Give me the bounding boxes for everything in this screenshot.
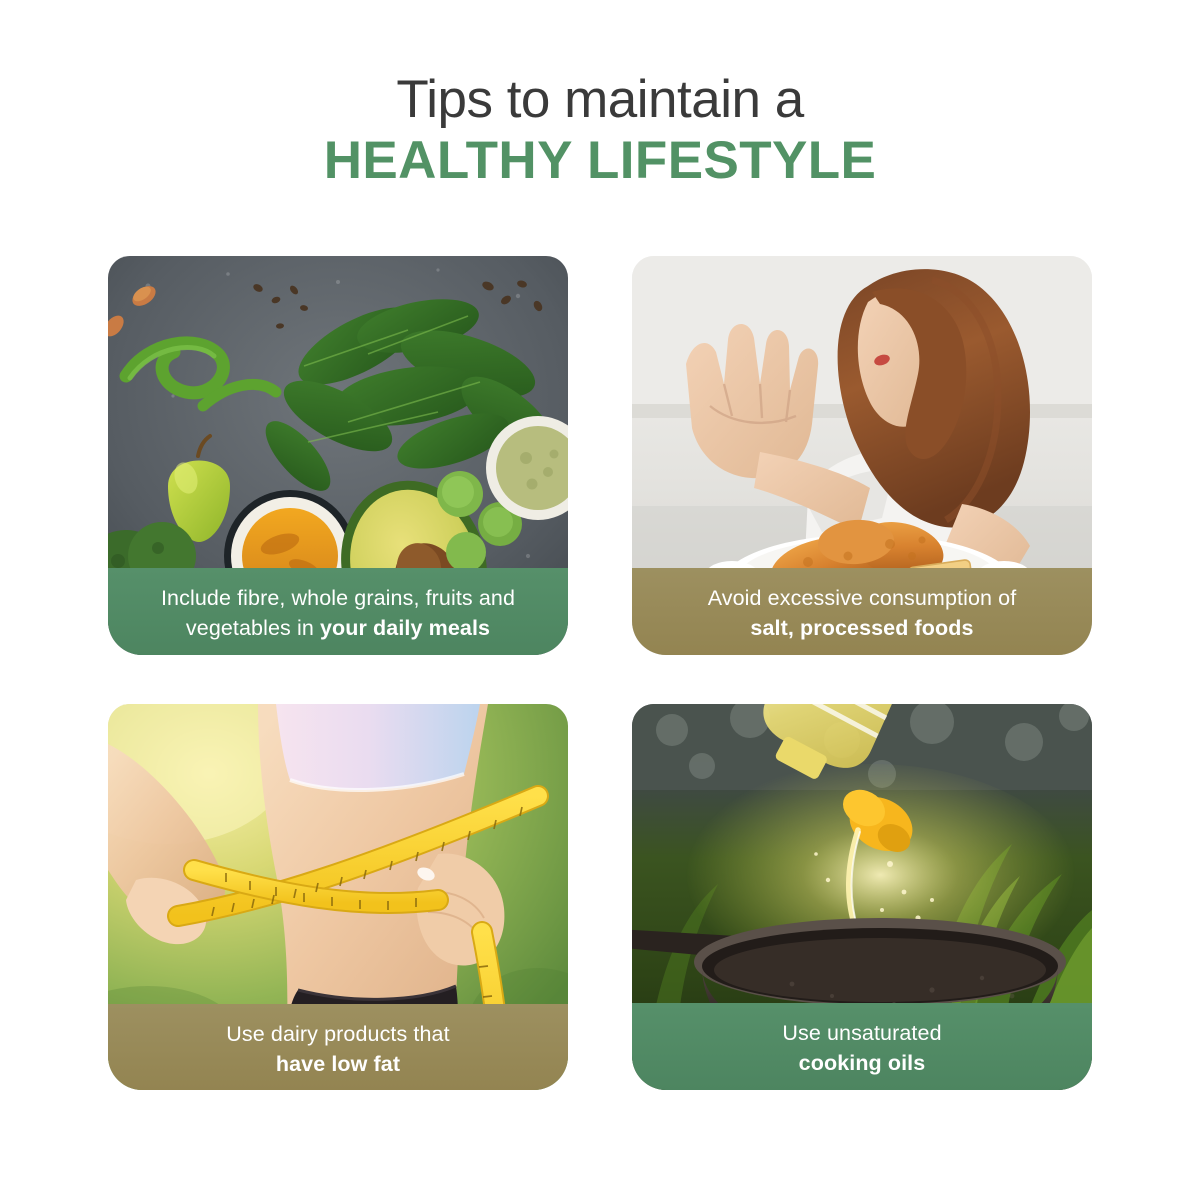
caption-line-1: Avoid excessive consumption of: [708, 586, 1017, 610]
tips-card-grid: Include fibre, whole grains, fruits and …: [108, 256, 1092, 1090]
tip-card-avoid-processed[interactable]: Avoid excessive consumption of salt, pro…: [632, 256, 1092, 655]
caption-line-2-plain: vegetables in: [186, 616, 320, 640]
caption-line-2-bold: your daily meals: [320, 616, 490, 640]
caption-line-1: Include fibre, whole grains, fruits and: [161, 586, 515, 610]
caption-line-1: Use unsaturated: [782, 1021, 941, 1045]
tip-card-low-fat-dairy[interactable]: Use dairy products that have low fat: [108, 704, 568, 1090]
tip-caption-healthy-food: Include fibre, whole grains, fruits and …: [108, 568, 568, 655]
tip-card-healthy-food[interactable]: Include fibre, whole grains, fruits and …: [108, 256, 568, 655]
caption-line-2-bold: salt, processed foods: [750, 616, 973, 640]
title-line-emphasis: HEALTHY LIFESTYLE: [0, 131, 1200, 192]
caption-line-2-bold: have low fat: [276, 1052, 400, 1076]
caption-line-2-bold: cooking oils: [799, 1051, 926, 1075]
page-title: Tips to maintain a HEALTHY LIFESTYLE: [0, 70, 1200, 192]
infographic-page: Tips to maintain a HEALTHY LIFESTYLE: [0, 0, 1200, 1200]
tip-caption-unsaturated-oils: Use unsaturated cooking oils: [632, 1003, 1092, 1090]
title-line-primary: Tips to maintain a: [0, 70, 1200, 129]
caption-line-1: Use dairy products that: [226, 1022, 449, 1046]
tip-card-unsaturated-oils[interactable]: Use unsaturated cooking oils: [632, 704, 1092, 1090]
tip-caption-avoid-processed: Avoid excessive consumption of salt, pro…: [632, 568, 1092, 655]
tip-caption-low-fat-dairy: Use dairy products that have low fat: [108, 1004, 568, 1090]
